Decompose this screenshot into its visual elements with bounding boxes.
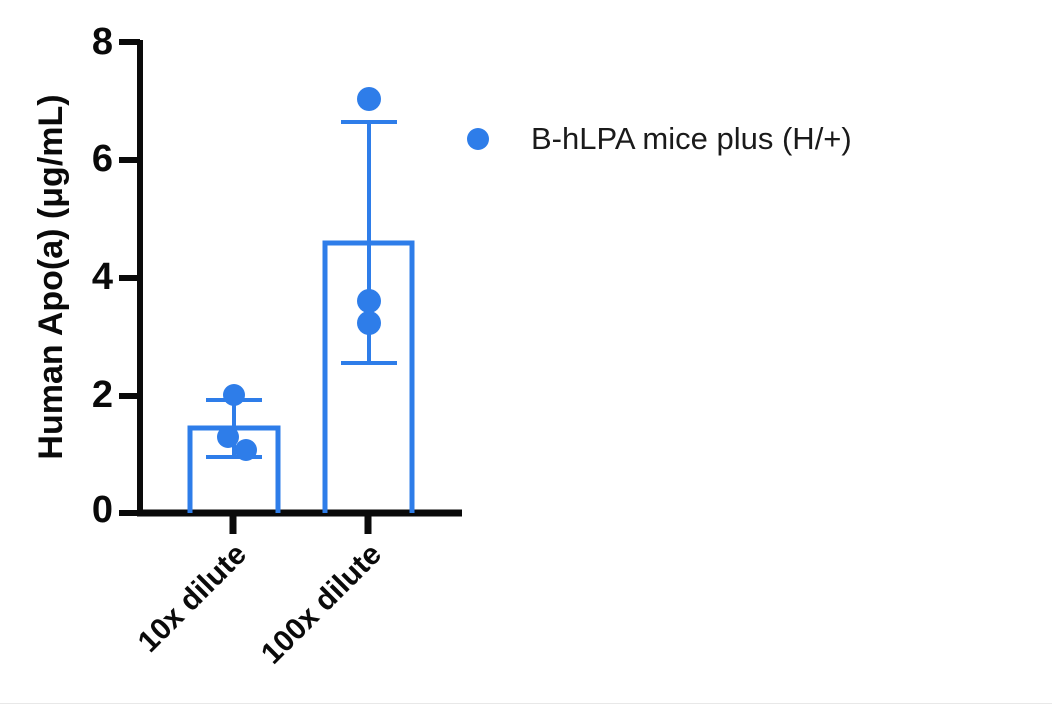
x-axis-tick-labels: 10x dilute 100x dilute xyxy=(132,538,388,671)
y-axis-title-text: Human Apo(a) (μg/mL) xyxy=(32,94,70,459)
data-point[interactable] xyxy=(357,311,381,335)
chart-figure: Human Apo(a) (μg/mL) 8 6 4 2 0 xyxy=(0,0,1052,716)
data-point[interactable] xyxy=(357,289,381,313)
bar-group-10x-dilute[interactable] xyxy=(190,384,278,513)
y-tick-label-6: 6 xyxy=(92,138,113,180)
legend-marker-icon xyxy=(467,128,489,150)
y-tick-label-8: 8 xyxy=(92,21,113,63)
data-point[interactable] xyxy=(235,439,257,461)
y-axis-tick-labels: 8 6 4 2 0 xyxy=(92,21,113,531)
x-tick-label-10x-dilute: 10x dilute xyxy=(132,538,253,659)
bar-group-100x-dilute[interactable] xyxy=(325,87,412,513)
data-point[interactable] xyxy=(223,384,245,406)
data-point[interactable] xyxy=(357,87,381,111)
y-tick-label-4: 4 xyxy=(92,256,113,298)
y-axis-title: Human Apo(a) (μg/mL) xyxy=(32,94,70,459)
chart-legend[interactable]: B-hLPA mice plus (H/+) xyxy=(467,121,852,156)
data-point[interactable] xyxy=(217,426,239,448)
x-tick-label-100x-dilute: 100x dilute xyxy=(255,538,388,671)
legend-label: B-hLPA mice plus (H/+) xyxy=(531,121,852,156)
y-axis-ticks xyxy=(119,42,140,513)
y-tick-label-2: 2 xyxy=(92,374,113,416)
bottom-divider xyxy=(0,703,1052,704)
y-tick-label-0: 0 xyxy=(92,489,113,531)
bar-chart-svg: Human Apo(a) (μg/mL) 8 6 4 2 0 xyxy=(0,0,1052,716)
